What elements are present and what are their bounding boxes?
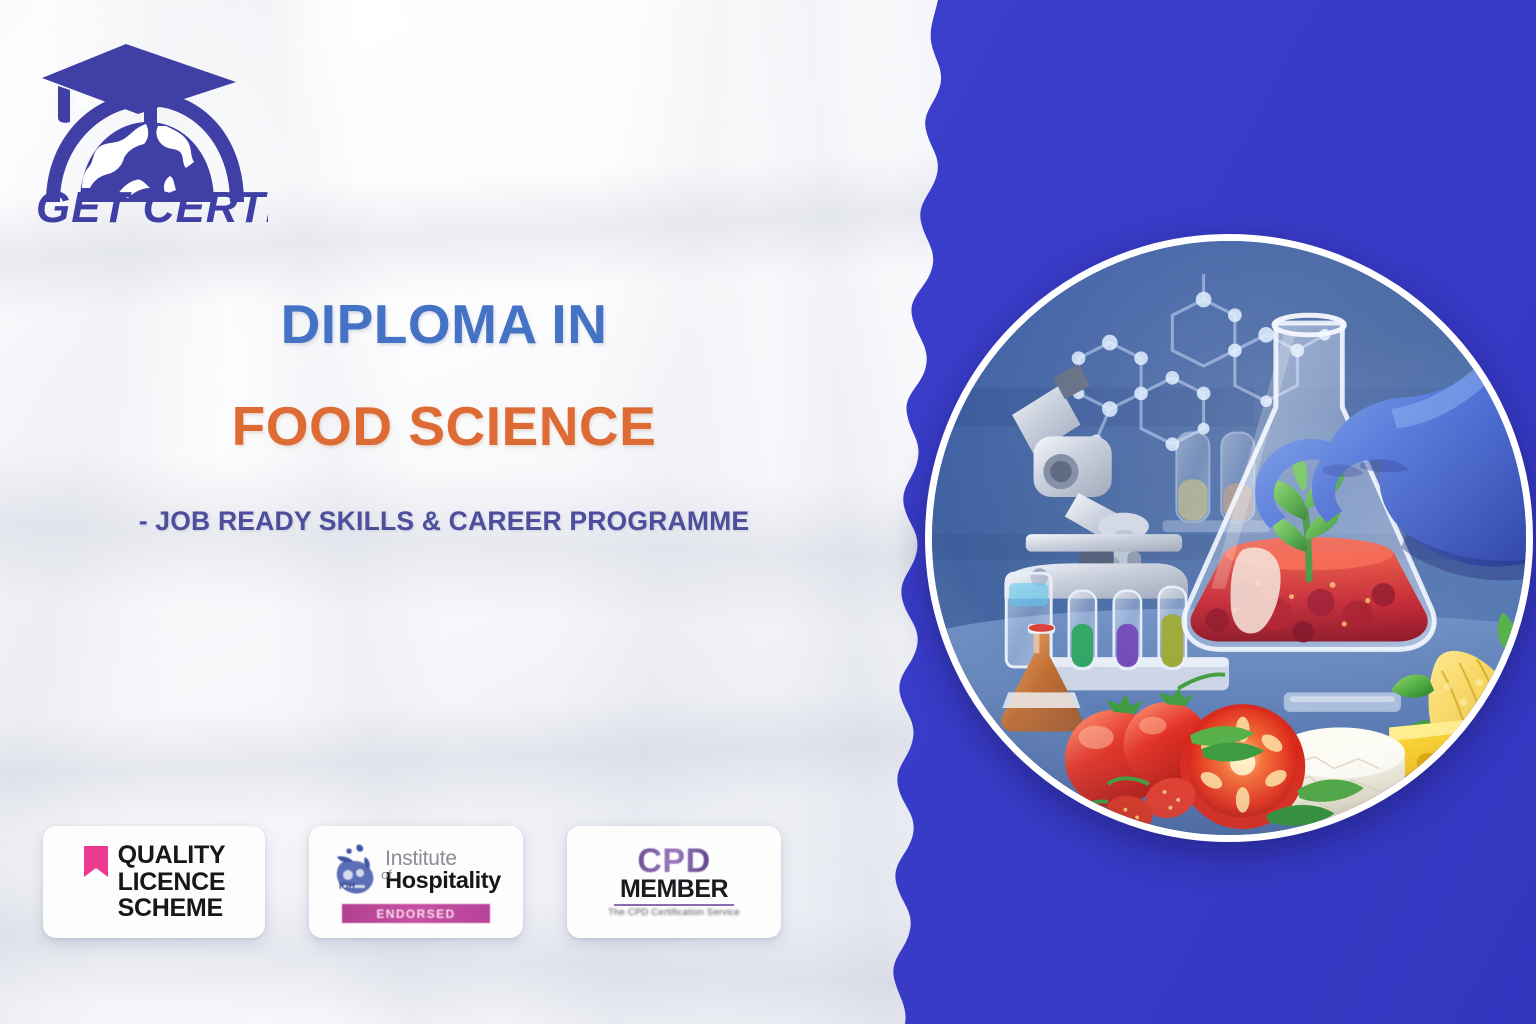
accreditation-badges: QUALITY LICENCE SCHEME [43,826,781,938]
badge-institute-of-hospitality[interactable]: IOH Institute Hospitality of ENDORSED [309,826,523,938]
page-title-line2: FOOD SCIENCE [0,398,888,456]
cpd-member-label: MEMBER [620,877,728,902]
qls-line2: LICENCE [118,869,226,896]
svg-text:IOH: IOH [339,881,355,891]
ioh-word-hospitality: Hospitality [385,869,501,893]
headline-block: DIPLOMA IN FOOD SCIENCE - JOB READY SKIL… [0,296,888,537]
food-science-laboratory-illustration [932,241,1526,835]
badge-cpd-member[interactable]: CPD MEMBER The CPD Certification Service [567,826,781,938]
brand-logo[interactable]: GET CERTIFY [18,30,268,225]
ioh-word-institute: Institute [385,848,501,869]
cpd-divider [614,904,734,906]
cpd-acronym: CPD [637,845,710,877]
heraldic-crest-icon: IOH [331,841,379,899]
hero-circle-image [925,234,1533,842]
cpd-service-line: The CPD Certification Service [608,908,740,919]
page-title-line1: DIPLOMA IN [0,296,888,354]
graduation-cap-globe-icon: GET CERTIFY [18,30,268,225]
badge-quality-licence-scheme[interactable]: QUALITY LICENCE SCHEME [43,826,265,938]
ioh-endorsed-ribbon: ENDORSED [342,904,490,923]
qls-line3: SCHEME [118,895,226,922]
svg-text:GET CERTIFY: GET CERTIFY [36,183,268,225]
bookmark-ribbon-icon [83,845,109,879]
page-subtitle: - JOB READY SKILLS & CAREER PROGRAMME [0,506,888,537]
ioh-word-of: of [381,868,392,881]
qls-line1: QUALITY [118,842,226,869]
